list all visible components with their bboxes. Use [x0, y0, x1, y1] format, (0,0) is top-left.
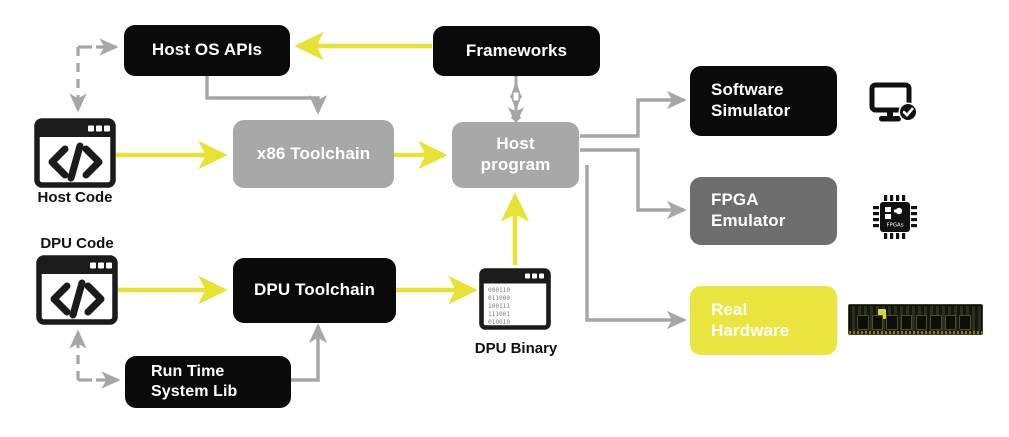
wire-hostprogram-to-softwaresimulator [580, 100, 684, 136]
dimm-chip [872, 315, 884, 330]
memory-dimm-icon [848, 304, 983, 335]
dimm-chip [886, 315, 898, 330]
wire-frameworks-hostprogram-bidirectional [511, 78, 522, 122]
dpu-binary-line-4: 010010 [488, 319, 510, 326]
dimm-chip [916, 315, 928, 330]
node-software-simulator[interactable]: Software Simulator [690, 66, 837, 136]
diagram-canvas: Host OS APIs Frameworks x86 Toolchain Ho… [0, 0, 1009, 437]
host-code-caption: Host Code [14, 189, 136, 206]
dpu-binary-icon[interactable]: 000110 011000 100111 111001 010010 [479, 268, 551, 330]
node-run-time-system-lib[interactable]: Run Time System Lib [125, 356, 291, 408]
node-dpu-toolchain[interactable]: DPU Toolchain [233, 258, 396, 323]
dpu-binary-line-1: 011000 [488, 295, 510, 302]
dimm-chip [857, 315, 869, 330]
dpu-binary-line-3: 111001 [488, 311, 510, 318]
dpu-binary-line-0: 000110 [488, 287, 510, 294]
node-host-program[interactable]: Host program [452, 122, 579, 188]
dimm-chip [930, 315, 942, 330]
wire-hostosapis-to-x86 [207, 76, 318, 112]
monitor-check-icon [869, 82, 921, 128]
host-code-icon[interactable] [34, 118, 116, 188]
wire-runtimelib-to-dputoolchain [291, 326, 318, 380]
node-fpga-emulator[interactable]: FPGA Emulator [690, 177, 837, 245]
dimm-chip [901, 315, 913, 330]
fpga-chip-icon: FPGAs [871, 193, 919, 241]
node-real-hardware[interactable]: Real Hardware [690, 286, 837, 355]
fpga-chip-label: FPGAs [886, 223, 903, 229]
dimm-chip [945, 315, 957, 330]
wire-runtimelib-to-dpucode [78, 332, 118, 380]
dpu-binary-caption: DPU Binary [455, 340, 577, 357]
dpu-binary-line-2: 100111 [488, 303, 510, 310]
dimm-chip [959, 315, 971, 330]
wire-hostprogram-to-fpgaemulator [580, 150, 684, 210]
node-x86-toolchain[interactable]: x86 Toolchain [233, 120, 394, 188]
dpu-code-caption: DPU Code [16, 235, 138, 252]
dimm-contacts [849, 331, 982, 334]
wire-hostcode-to-hostosapis [78, 47, 116, 110]
wire-hostprogram-to-realhardware [587, 165, 684, 320]
dpu-code-icon[interactable] [36, 255, 118, 325]
node-host-os-apis[interactable]: Host OS APIs [124, 25, 290, 76]
node-frameworks[interactable]: Frameworks [433, 26, 600, 76]
